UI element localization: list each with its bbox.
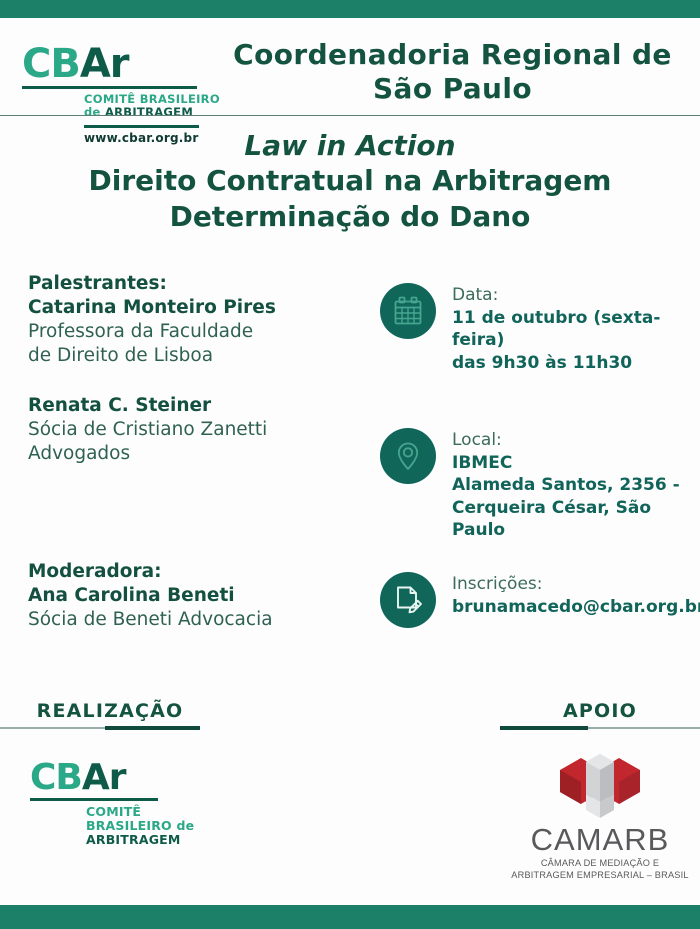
cbar-footer-wordmark: CBAr <box>30 760 194 796</box>
top-green-bar <box>0 0 700 18</box>
info-date-value-line2: das 9h30 às 11h30 <box>452 352 700 374</box>
speakers-block: Palestrantes: Catarina Monteiro Pires Pr… <box>28 272 358 466</box>
info-place-value-line2: Alameda Santos, 2356 - <box>452 474 680 496</box>
speaker-role-1-line2: de Direito de Lisboa <box>28 344 358 368</box>
header-divider <box>0 115 700 116</box>
cbar-footer-rule <box>30 798 158 801</box>
cbar-wordmark: CBAr <box>22 44 220 84</box>
cbar-footer-wordmark-cb: CB <box>30 757 82 798</box>
info-registration-email[interactable]: brunamacedo@cbar.org.br <box>452 596 700 618</box>
cbar-wordmark-ar: Ar <box>80 41 129 87</box>
realizacao-divider-dark <box>105 726 200 730</box>
moderator-block: Moderadora: Ana Carolina Beneti Sócia de… <box>28 560 368 632</box>
event-title-line3: Determinação do Dano <box>0 199 700 235</box>
camarb-tagline-line2: ARBITRAGEM EMPRESARIAL – BRASIL <box>500 870 700 882</box>
info-registration-block: Inscrições: brunamacedo@cbar.org.br <box>380 572 700 628</box>
event-title-line1: Law in Action <box>0 128 700 163</box>
speaker-role-1-line1: Professora da Faculdade <box>28 320 358 344</box>
moderator-heading: Moderadora: <box>28 560 368 584</box>
speakers-spacer <box>28 368 358 394</box>
event-title-line2: Direito Contratual na Arbitragem <box>0 163 700 199</box>
info-date-text: Data: 11 de outubro (sexta-feira) das 9h… <box>452 283 700 374</box>
realizacao-heading: REALIZAÇÃO <box>20 700 200 722</box>
speaker-role-2-line1: Sócia de Cristiano Zanetti <box>28 418 358 442</box>
apoio-heading: APOIO <box>510 700 690 722</box>
cbar-footer-wordmark-ar: Ar <box>82 757 126 798</box>
info-date-value-line1: 11 de outubro (sexta-feira) <box>452 307 700 352</box>
bottom-green-bar <box>0 905 700 929</box>
cbar-footer-subtitle-brasileiro: BRASILEIRO <box>86 818 172 833</box>
cbar-footer-subtitle-line3: ARBITRAGEM <box>86 832 181 847</box>
cbar-footer-subtitle-de: de <box>172 818 194 833</box>
cbar-footer-subtitle: COMITÊ BRASILEIRO de ARBITRAGEM <box>86 805 194 847</box>
cbar-logo-subtitle-line2: de ARBITRAGEM <box>84 106 220 119</box>
poster-canvas: CBAr COMITÊ BRASILEIRO de ARBITRAGEM www… <box>0 0 700 929</box>
info-place-text: Local: IBMEC Alameda Santos, 2356 - Cerq… <box>452 428 680 542</box>
speaker-name-1: Catarina Monteiro Pires <box>28 296 358 320</box>
cbar-footer-logo: CBAr COMITÊ BRASILEIRO de ARBITRAGEM <box>30 760 194 847</box>
speakers-heading: Palestrantes: <box>28 272 358 296</box>
cbar-footer-subtitle-line2: BRASILEIRO de <box>86 819 194 833</box>
info-place-value-line4: Paulo <box>452 519 680 541</box>
info-registration-label: Inscrições: <box>452 574 700 596</box>
realizacao-divider <box>0 726 200 730</box>
camarb-hexagon-icon <box>554 748 646 822</box>
realizacao-divider-light <box>0 727 105 729</box>
info-place-block: Local: IBMEC Alameda Santos, 2356 - Cerq… <box>380 428 680 542</box>
info-date-label: Data: <box>452 285 700 307</box>
calendar-icon <box>380 283 436 339</box>
info-place-label: Local: <box>452 430 680 452</box>
camarb-logo: CAMARB CÂMARA DE MEDIAÇÃO E ARBITRAGEM E… <box>500 748 700 882</box>
cbar-logo-subtitle-de: de <box>84 105 105 119</box>
moderator-name: Ana Carolina Beneti <box>28 584 368 608</box>
event-title-block: Law in Action Direito Contratual na Arbi… <box>0 128 700 235</box>
camarb-name: CAMARB <box>500 824 700 855</box>
speaker-role-2-line2: Advogados <box>28 442 358 466</box>
camarb-tagline: CÂMARA DE MEDIAÇÃO E ARBITRAGEM EMPRESAR… <box>500 858 700 882</box>
cbar-wordmark-cb: CB <box>22 41 80 87</box>
document-pencil-icon <box>380 572 436 628</box>
speaker-name-2: Renata C. Steiner <box>28 394 358 418</box>
apoio-divider <box>500 726 700 730</box>
info-date-block: Data: 11 de outubro (sexta-feira) das 9h… <box>380 283 700 374</box>
apoio-divider-light <box>588 727 700 729</box>
info-registration-text: Inscrições: brunamacedo@cbar.org.br <box>452 572 700 618</box>
header-title: Coordenadoria Regional de São Paulo <box>215 38 690 106</box>
moderator-role: Sócia de Beneti Advocacia <box>28 608 368 632</box>
map-pin-icon <box>380 428 436 484</box>
cbar-logo-subtitle-arbitragem: ARBITRAGEM <box>105 105 193 119</box>
info-place-value-line1: IBMEC <box>452 452 680 474</box>
header-title-line2: São Paulo <box>215 72 690 106</box>
info-place-value-line3: Cerqueira César, São <box>452 497 680 519</box>
header-region: CBAr COMITÊ BRASILEIRO de ARBITRAGEM www… <box>0 18 700 116</box>
cbar-footer-subtitle-line1: COMITÊ <box>86 805 194 819</box>
camarb-tagline-line1: CÂMARA DE MEDIAÇÃO E <box>500 858 700 870</box>
header-title-line1: Coordenadoria Regional de <box>215 38 690 72</box>
apoio-divider-dark <box>500 726 588 730</box>
